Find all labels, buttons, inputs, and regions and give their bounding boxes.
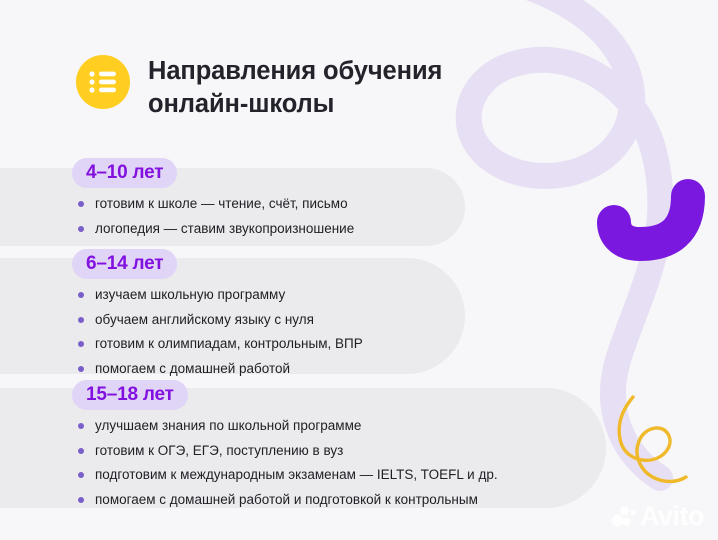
list-item: готовим к ОГЭ, ЕГЭ, поступлению в вуз: [78, 444, 498, 458]
bulleted-list-icon: [76, 55, 130, 109]
bullet-dot-icon: [78, 292, 84, 298]
bullet-dot-icon: [78, 317, 84, 323]
list-item: логопедия — ставим звукопроизношение: [78, 222, 354, 236]
page-title: Направления обучения онлайн-школы: [148, 53, 442, 121]
avito-dots-logo: [611, 506, 636, 528]
bullet-dot-icon: [78, 201, 84, 207]
list-item-label: готовим к олимпиадам, контрольным, ВПР: [95, 337, 363, 351]
feature-list-6-14: изучаем школьную программу обучаем англи…: [72, 288, 363, 375]
list-item-label: помогаем с домашней работой и подготовко…: [95, 493, 478, 507]
list-item: обучаем английскому языку с нуля: [78, 313, 363, 327]
bullet-dot-icon: [78, 472, 84, 478]
feature-list-15-18: улучшаем знания по школьной программе го…: [72, 419, 498, 506]
age-badge-15-18: 15–18 лет: [72, 380, 188, 410]
list-item: подготовим к международным экзаменам — I…: [78, 468, 498, 482]
section-age-15-18: 15–18 лет улучшаем знания по школьной пр…: [72, 380, 498, 506]
list-item-label: изучаем школьную программу: [95, 288, 285, 302]
list-item-label: готовим к школе — чтение, счёт, письмо: [95, 197, 348, 211]
list-item-label: обучаем английскому языку с нуля: [95, 313, 314, 327]
feature-list-4-10: готовим к школе — чтение, счёт, письмо л…: [72, 197, 354, 235]
section-age-6-14: 6–14 лет изучаем школьную программу обуч…: [72, 249, 363, 375]
list-item: готовим к школе — чтение, счёт, письмо: [78, 197, 354, 211]
list-item-label: готовим к ОГЭ, ЕГЭ, поступлению в вуз: [95, 444, 343, 458]
bullet-dot-icon: [78, 497, 84, 503]
list-item: изучаем школьную программу: [78, 288, 363, 302]
bullet-dot-icon: [78, 448, 84, 454]
list-item-label: улучшаем знания по школьной программе: [95, 419, 361, 433]
age-badge-4-10: 4–10 лет: [72, 158, 177, 188]
list-item: готовим к олимпиадам, контрольным, ВПР: [78, 337, 363, 351]
bullet-dot-icon: [78, 341, 84, 347]
avito-wordmark: Avito: [640, 503, 704, 530]
bullet-dot-icon: [78, 226, 84, 232]
list-item-label: логопедия — ставим звукопроизношение: [95, 222, 354, 236]
age-badge-6-14: 6–14 лет: [72, 249, 177, 279]
poster-canvas: Направления обучения онлайн-школы 4–10 л…: [0, 0, 718, 540]
list-item-label: помогаем с домашней работой: [95, 362, 290, 376]
bullet-dot-icon: [78, 366, 84, 372]
list-item-label: подготовим к международным экзаменам — I…: [95, 468, 498, 482]
list-item: улучшаем знания по школьной программе: [78, 419, 498, 433]
list-item: помогаем с домашней работой и подготовко…: [78, 493, 498, 507]
section-age-4-10: 4–10 лет готовим к школе — чтение, счёт,…: [72, 158, 354, 235]
list-item: помогаем с домашней работой: [78, 362, 363, 376]
header: Направления обучения онлайн-школы: [76, 53, 442, 121]
avito-watermark: Avito: [611, 503, 704, 530]
bullet-dot-icon: [78, 423, 84, 429]
